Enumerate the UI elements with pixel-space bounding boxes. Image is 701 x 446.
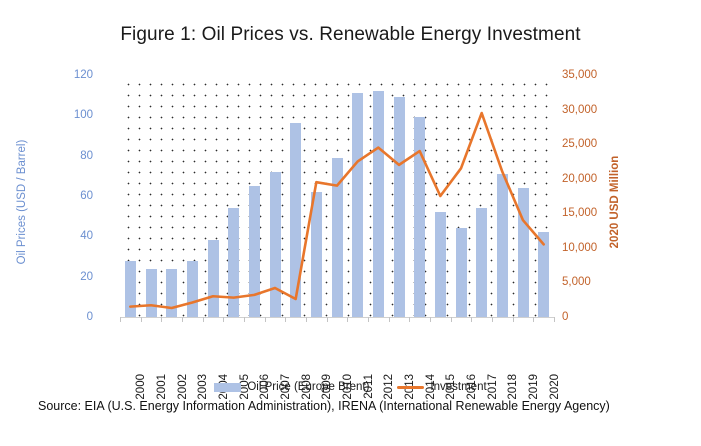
x-tick [368, 317, 369, 322]
x-tick [409, 317, 410, 322]
x-tick [161, 317, 162, 322]
legend-label-investment: Investment [430, 381, 486, 393]
x-tick [389, 317, 390, 322]
x-tick [223, 317, 224, 322]
x-tick [471, 317, 472, 322]
x-tick [182, 317, 183, 322]
x-axis-ticks [120, 317, 554, 324]
left-axis-tick-100: 100 [74, 109, 93, 121]
page-title: Figure 1: Oil Prices vs. Renewable Energ… [0, 24, 701, 46]
x-tick [203, 317, 204, 322]
right-axis-title: 2020 USD Million [609, 87, 621, 317]
x-tick [513, 317, 514, 322]
x-tick [533, 317, 534, 322]
x-tick [451, 317, 452, 322]
left-axis-tick-0: 0 [87, 311, 93, 323]
right-axis-tick-25000: 25,000 [562, 138, 597, 150]
x-tick [430, 317, 431, 322]
right-axis-tick-0: 0 [562, 311, 568, 323]
x-tick [244, 317, 245, 322]
bar-swatch-icon [214, 383, 241, 392]
x-tick [347, 317, 348, 322]
x-tick [141, 317, 142, 322]
x-tick [327, 317, 328, 322]
left-axis-tick-80: 80 [80, 150, 93, 162]
x-tick [554, 317, 555, 322]
left-axis-tick-20: 20 [80, 271, 93, 283]
legend-label-oil-price: Oil Price (Europe Brent) [247, 381, 369, 393]
right-axis-tick-35000: 35,000 [562, 69, 597, 81]
right-axis-tick-5000: 5,000 [562, 276, 591, 288]
left-axis-tick-40: 40 [80, 230, 93, 242]
x-tick [285, 317, 286, 322]
legend-item-investment[interactable]: Investment [397, 381, 486, 393]
left-axis-tick-120: 120 [74, 69, 93, 81]
line-series-investment [120, 75, 554, 317]
figure-container: Figure 1: Oil Prices vs. Renewable Energ… [0, 0, 701, 446]
left-axis-title: Oil Prices (USD / Barrel) [16, 87, 28, 317]
chart-legend: Oil Price (Europe Brent) Investment [0, 378, 701, 396]
left-axis-tick-60: 60 [80, 190, 93, 202]
right-axis-tick-20000: 20,000 [562, 173, 597, 185]
source-note: Source: EIA (U.S. Energy Information Adm… [38, 399, 678, 413]
x-tick [492, 317, 493, 322]
right-axis-tick-30000: 30,000 [562, 104, 597, 116]
legend-item-oil-price[interactable]: Oil Price (Europe Brent) [214, 381, 369, 393]
x-tick [265, 317, 266, 322]
x-tick [306, 317, 307, 322]
right-axis-tick-15000: 15,000 [562, 207, 597, 219]
line-swatch-icon [397, 386, 424, 389]
x-axis-labels: 2000200120022003200420052006200720082009… [120, 330, 554, 376]
x-tick [120, 317, 121, 322]
investment-polyline [130, 113, 543, 308]
right-axis-tick-10000: 10,000 [562, 242, 597, 254]
